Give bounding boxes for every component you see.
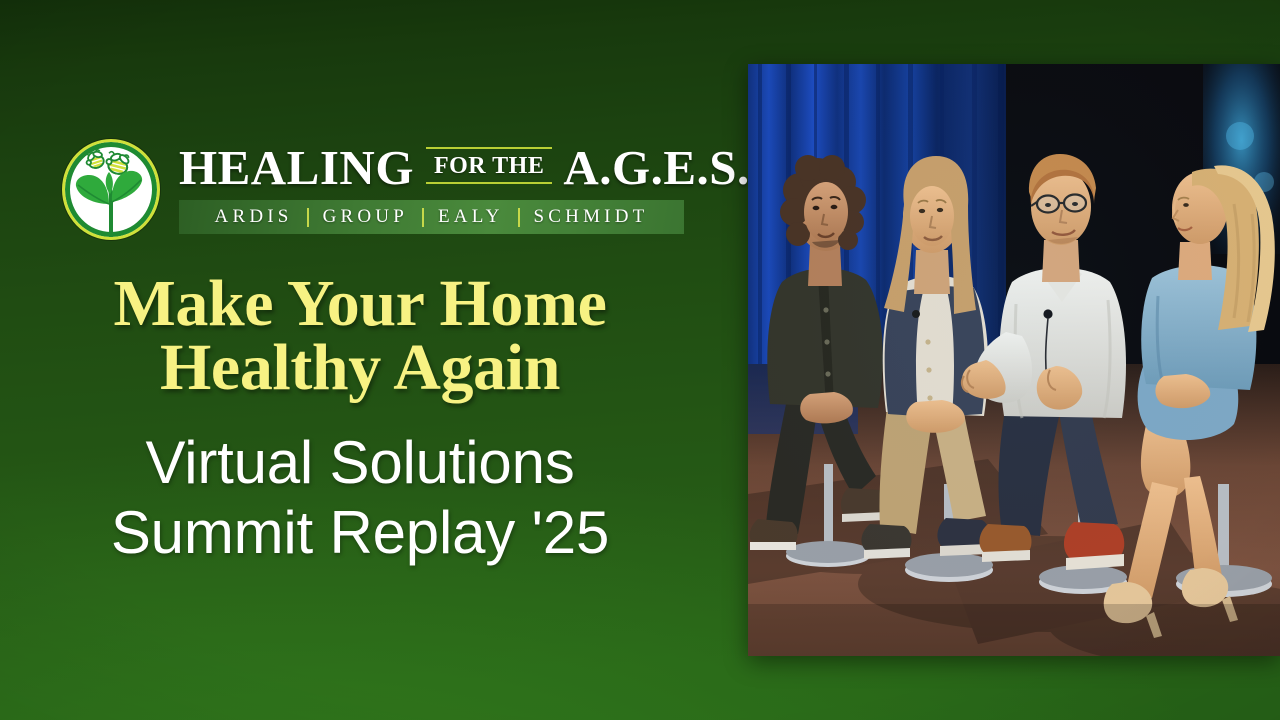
- subheadline-line-2: Summit Replay '25: [0, 498, 720, 568]
- panel-discussion-photo: [748, 64, 1280, 656]
- founder-name-ardis: ARDIS: [201, 206, 307, 228]
- headline-line-1: Make Your Home: [0, 272, 720, 336]
- bees-and-plant-emblem-icon: [62, 139, 160, 240]
- wordmark-for-the: FOR THE: [426, 147, 552, 184]
- wordmark-row: HEALING FOR THE A.G.E.S.: [179, 138, 687, 196]
- wordmark-healing: HEALING: [179, 143, 414, 192]
- brand-lockup: HEALING FOR THE A.G.E.S. ARDIS GROUP EAL…: [62, 138, 687, 242]
- headline-line-2: Healthy Again: [0, 336, 720, 400]
- slide-canvas: HEALING FOR THE A.G.E.S. ARDIS GROUP EAL…: [0, 0, 1280, 720]
- founder-name-ealy: EALY: [424, 206, 518, 228]
- subheadline-line-1: Virtual Solutions: [0, 428, 720, 498]
- founder-name-group: GROUP: [309, 206, 422, 228]
- founder-name-schmidt: SCHMIDT: [520, 206, 663, 228]
- founder-names-bar: ARDIS GROUP EALY SCHMIDT: [179, 200, 684, 234]
- left-content-panel: HEALING FOR THE A.G.E.S. ARDIS GROUP EAL…: [0, 0, 720, 720]
- wordmark-ages: A.G.E.S.: [563, 143, 749, 192]
- wordmark: HEALING FOR THE A.G.E.S. ARDIS GROUP EAL…: [179, 138, 687, 242]
- subheadline: Virtual Solutions Summit Replay '25: [0, 428, 720, 568]
- headline: Make Your Home Healthy Again: [0, 272, 720, 400]
